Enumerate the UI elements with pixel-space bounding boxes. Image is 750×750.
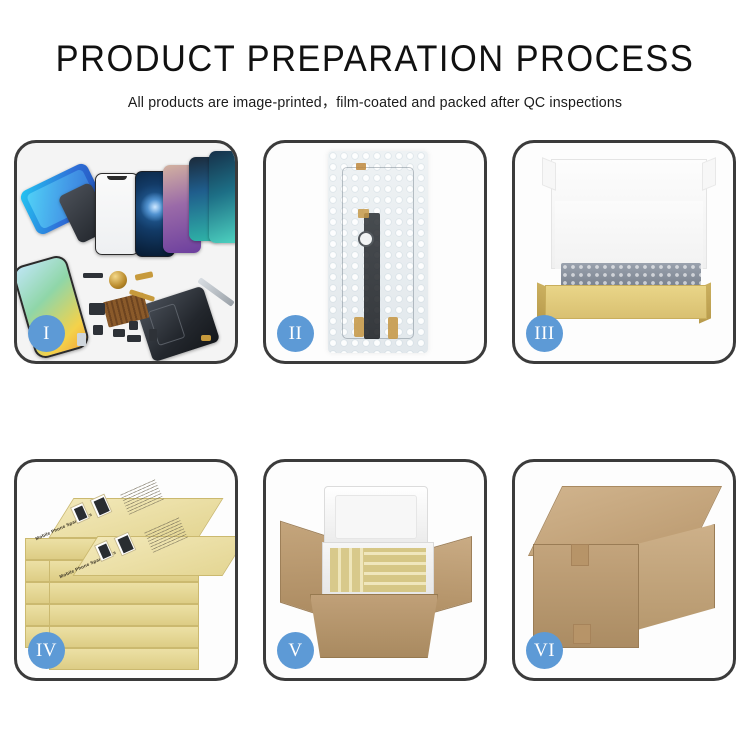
stacked-box (49, 604, 199, 626)
process-step-panel-3: III (512, 140, 736, 364)
gold-flex-icon (135, 271, 154, 281)
stacked-box (49, 582, 199, 604)
flex-cable-icon (364, 213, 380, 339)
green-phone-icon (209, 151, 235, 243)
step-badge-1: I (28, 315, 65, 352)
step-badge-3: III (526, 315, 563, 352)
process-step-panel-2: II (263, 140, 487, 364)
process-steps-grid: I II (14, 140, 736, 680)
header: PRODUCT PREPARATION PROCESS All products… (0, 40, 750, 112)
chip-icon (83, 273, 103, 278)
step-badge-6: VI (526, 632, 563, 669)
coin-cell-icon (109, 271, 127, 289)
packing-tape-icon (571, 544, 589, 566)
stacked-box (49, 626, 199, 648)
process-step-panel-4: Mobile Phone Spare Parts Mobile Phone Sp… (14, 459, 238, 681)
step-badge-2: II (277, 315, 314, 352)
chip-icon (93, 325, 103, 335)
product-preparation-infographic: PRODUCT PREPARATION PROCESS All products… (0, 0, 750, 750)
page-title: PRODUCT PREPARATION PROCESS (26, 40, 724, 79)
page-subtitle: All products are image-printed，film-coat… (8, 91, 743, 112)
process-step-panel-1: I (14, 140, 238, 364)
bubble-wrap-bag-icon (328, 151, 428, 353)
packing-tape-icon (573, 624, 591, 644)
process-step-panel-6: VI (512, 459, 736, 681)
connector-icon (354, 317, 364, 337)
chip-icon (127, 335, 141, 342)
carton-body (310, 594, 438, 658)
yellow-box-front (545, 285, 707, 319)
gold-tape-icon (356, 163, 366, 170)
gold-flex-icon (201, 335, 211, 341)
stacked-box (49, 648, 199, 670)
chip-icon (113, 329, 125, 337)
chip-icon (89, 303, 105, 315)
yellow-boxes-inside (330, 548, 426, 592)
gold-tape-icon (358, 209, 369, 218)
step-badge-5: V (277, 632, 314, 669)
foam-lid-icon (324, 486, 428, 548)
connector-icon (388, 317, 398, 339)
foam-lining-icon (555, 201, 703, 269)
chip-icon (77, 333, 86, 346)
screen-protector-icon (95, 173, 139, 255)
step-badge-4: IV (28, 632, 65, 669)
chip-icon (149, 329, 157, 341)
process-step-panel-5: V (263, 459, 487, 681)
chip-icon (129, 321, 138, 330)
